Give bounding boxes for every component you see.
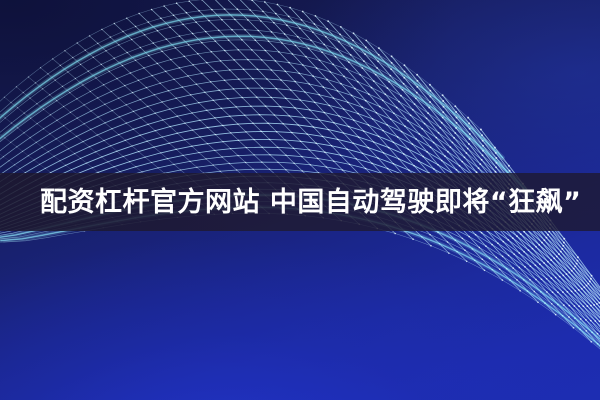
banner-image: 配资杠杆官方网站 中国自动驾驶即将“狂飙”	[0, 0, 600, 400]
headline-container: 配资杠杆官方网站 中国自动驾驶即将“狂飙”	[0, 173, 600, 231]
headline-text: 配资杠杆官方网站 中国自动驾驶即将“狂飙”	[40, 189, 581, 216]
